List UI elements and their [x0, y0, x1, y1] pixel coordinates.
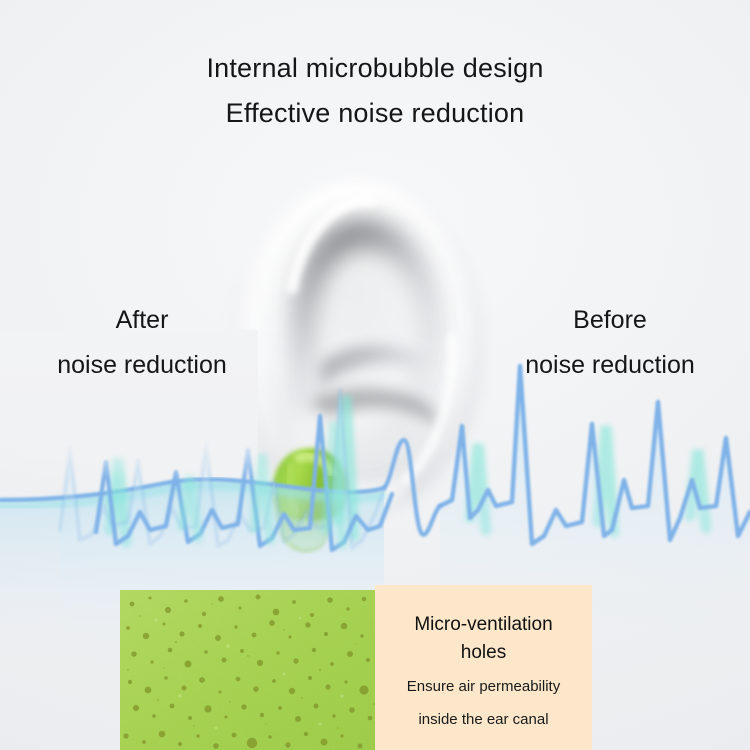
foam-texture-swatch [120, 590, 375, 750]
info-panel-title-line-2: holes [375, 639, 592, 667]
label-after-title: After [22, 308, 262, 333]
info-panel-subtitle-line-1: Ensure air permeability [375, 676, 592, 699]
info-panel-title-line-1: Micro-ventilation [375, 611, 592, 639]
label-after-subtitle: noise reduction [22, 353, 262, 378]
product-poster: Internal microbubble design Effective no… [0, 0, 750, 750]
headline-line-2: Effective noise reduction [0, 100, 750, 127]
info-panel-subtitle-line-2: inside the ear canal [375, 709, 592, 732]
label-before-subtitle: noise reduction [490, 353, 730, 378]
label-before-title: Before [490, 308, 730, 333]
micro-ventilation-info-panel: Micro-ventilation holes Ensure air perme… [375, 585, 592, 750]
headline-block: Internal microbubble design Effective no… [0, 55, 750, 127]
headline-line-1: Internal microbubble design [0, 55, 750, 82]
label-before-noise-reduction: Before noise reduction [490, 308, 730, 378]
label-after-noise-reduction: After noise reduction [22, 308, 262, 378]
